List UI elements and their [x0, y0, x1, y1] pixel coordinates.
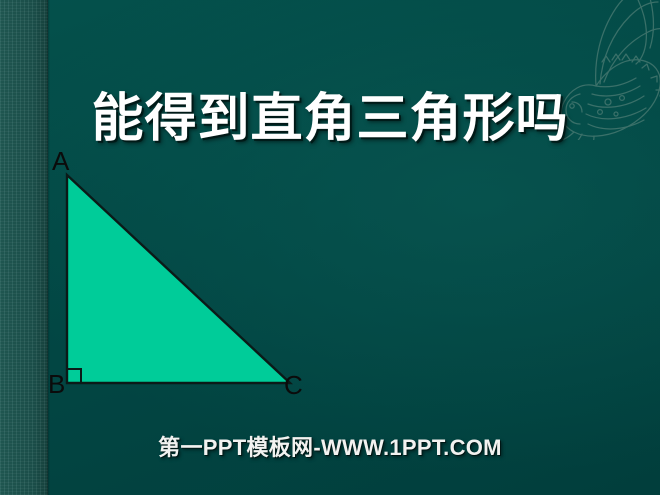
footer-watermark: 第一PPT模板网-WWW.1PPT.COM: [0, 430, 660, 462]
vertex-label-b: B: [48, 371, 65, 397]
page-title: 能得到直角三角形吗: [0, 88, 660, 150]
triangle-shape: [67, 175, 290, 383]
vertex-label-c: C: [284, 372, 303, 398]
right-triangle-figure: [40, 150, 330, 405]
vertex-label-a: A: [52, 148, 69, 174]
slide-canvas: 能得到直角三角形吗 A B C 第一PPT模板网-WWW.1PPT.COM: [0, 0, 660, 495]
